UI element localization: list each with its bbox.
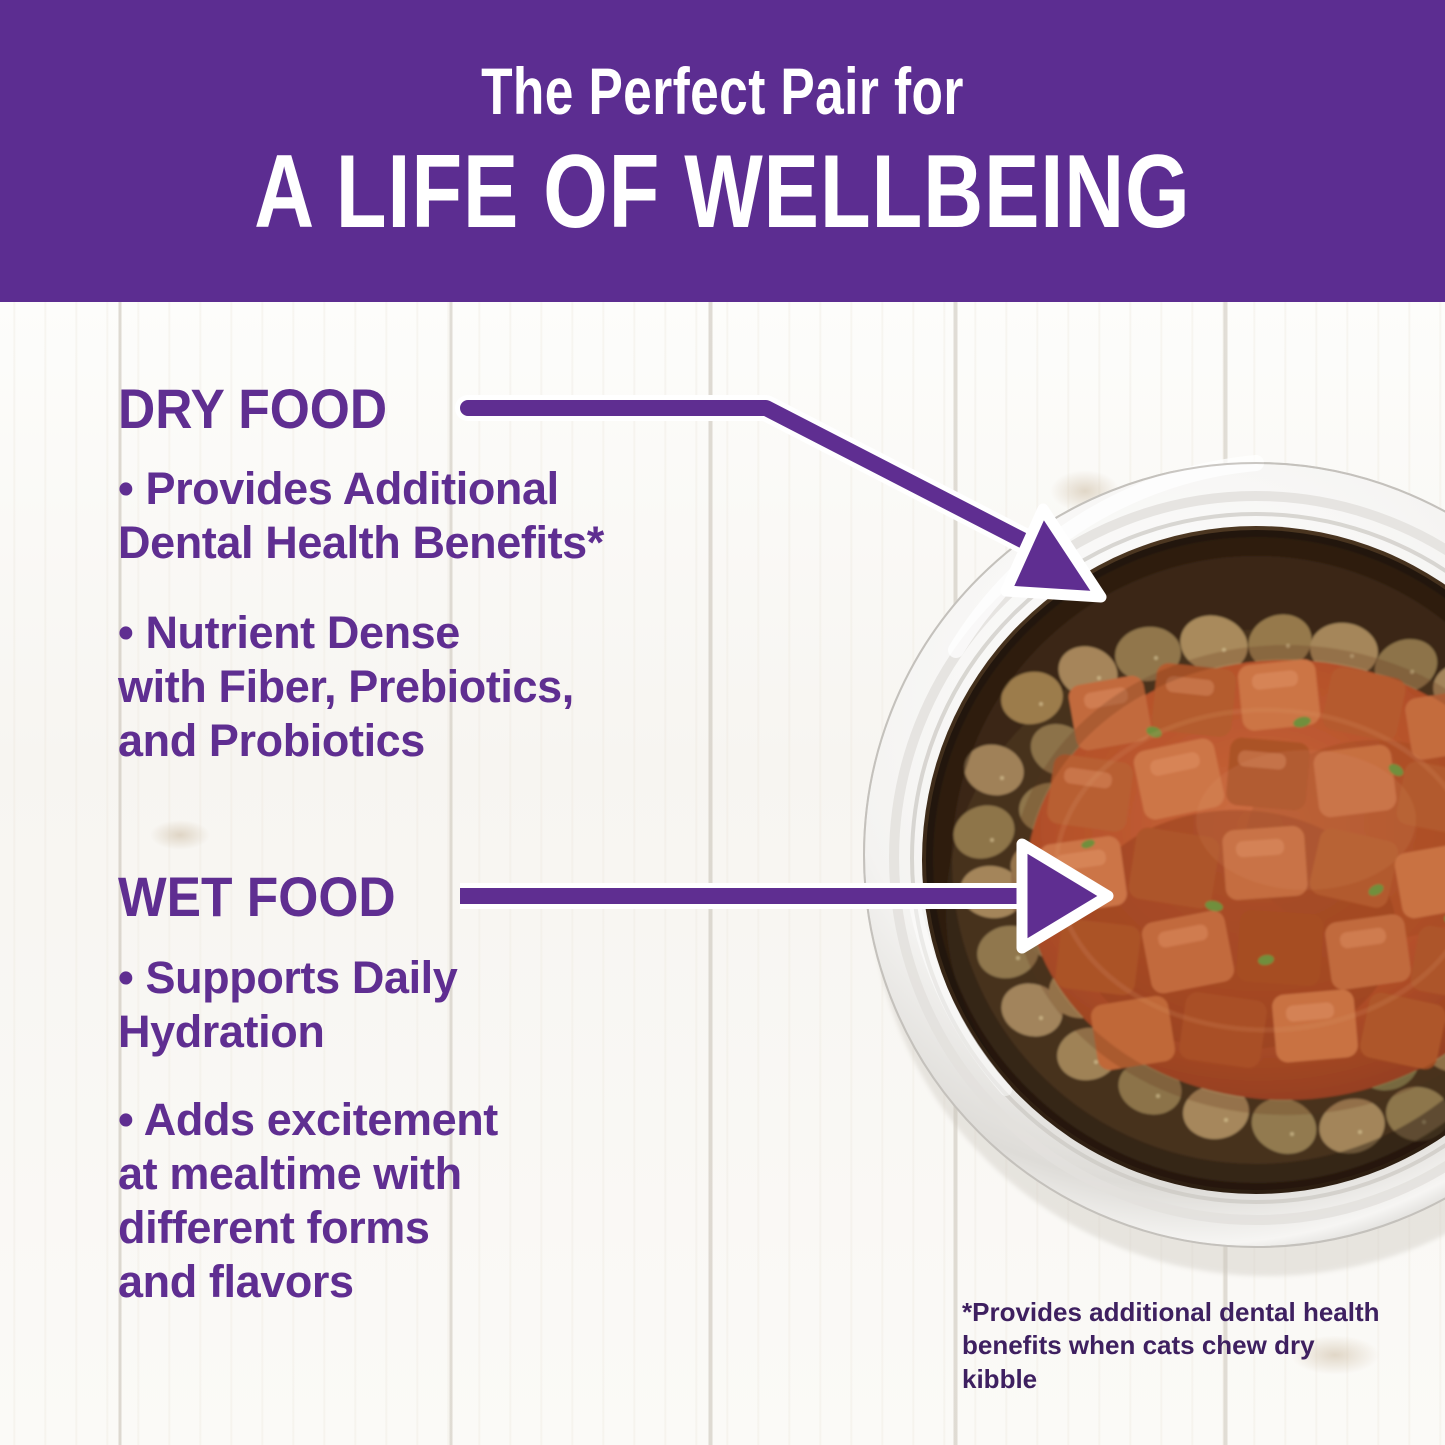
wet-food-bullet-2-line-1: • Adds excitement: [118, 1094, 498, 1145]
wet-food-bullet-2: • Adds excitement at mealtime with diffe…: [118, 1093, 818, 1309]
dry-food-bullet-2-line-2: with Fiber, Prebiotics,: [118, 661, 574, 712]
dry-food-bullet-1-line-2: Dental Health Benefits*: [118, 517, 604, 568]
section-title-dry-food: DRY FOOD: [118, 381, 387, 437]
infographic-page: The Perfect Pair for A LIFE OF WELLBEING…: [0, 0, 1445, 1445]
wet-food-bullet-2-line-2: at mealtime with: [118, 1148, 462, 1199]
pet-food-bowl-photo: [836, 440, 1445, 1280]
dry-food-bullet-1: • Provides Additional Dental Health Bene…: [118, 462, 818, 570]
wet-food-bullet-1-line-2: Hydration: [118, 1006, 324, 1057]
wet-food-bullet-2-line-3: different forms: [118, 1202, 430, 1253]
wet-food-bullet-1: • Supports Daily Hydration: [118, 951, 818, 1059]
wet-food-bullet-2-line-4: and flavors: [118, 1256, 354, 1307]
wet-food-bullet-1-line-1: • Supports Daily: [118, 952, 457, 1003]
footnote-line-1: *Provides additional dental health: [962, 1297, 1380, 1327]
section-title-wet-food: WET FOOD: [118, 869, 396, 925]
dental-health-footnote: *Provides additional dental health benef…: [962, 1296, 1392, 1396]
dry-food-bullet-2: • Nutrient Dense with Fiber, Prebiotics,…: [118, 606, 818, 768]
dry-food-bullet-2-line-3: and Probiotics: [118, 715, 425, 766]
wood-knot-decor: [150, 820, 210, 850]
header-banner: The Perfect Pair for A LIFE OF WELLBEING: [0, 0, 1445, 302]
dry-food-bullet-2-line-1: • Nutrient Dense: [118, 607, 460, 658]
header-subtitle: The Perfect Pair for: [481, 58, 964, 124]
header-title: A LIFE OF WELLBEING: [254, 140, 1191, 244]
footnote-line-2: benefits when cats chew dry kibble: [962, 1330, 1315, 1393]
dry-food-bullet-1-line-1: • Provides Additional: [118, 463, 559, 514]
